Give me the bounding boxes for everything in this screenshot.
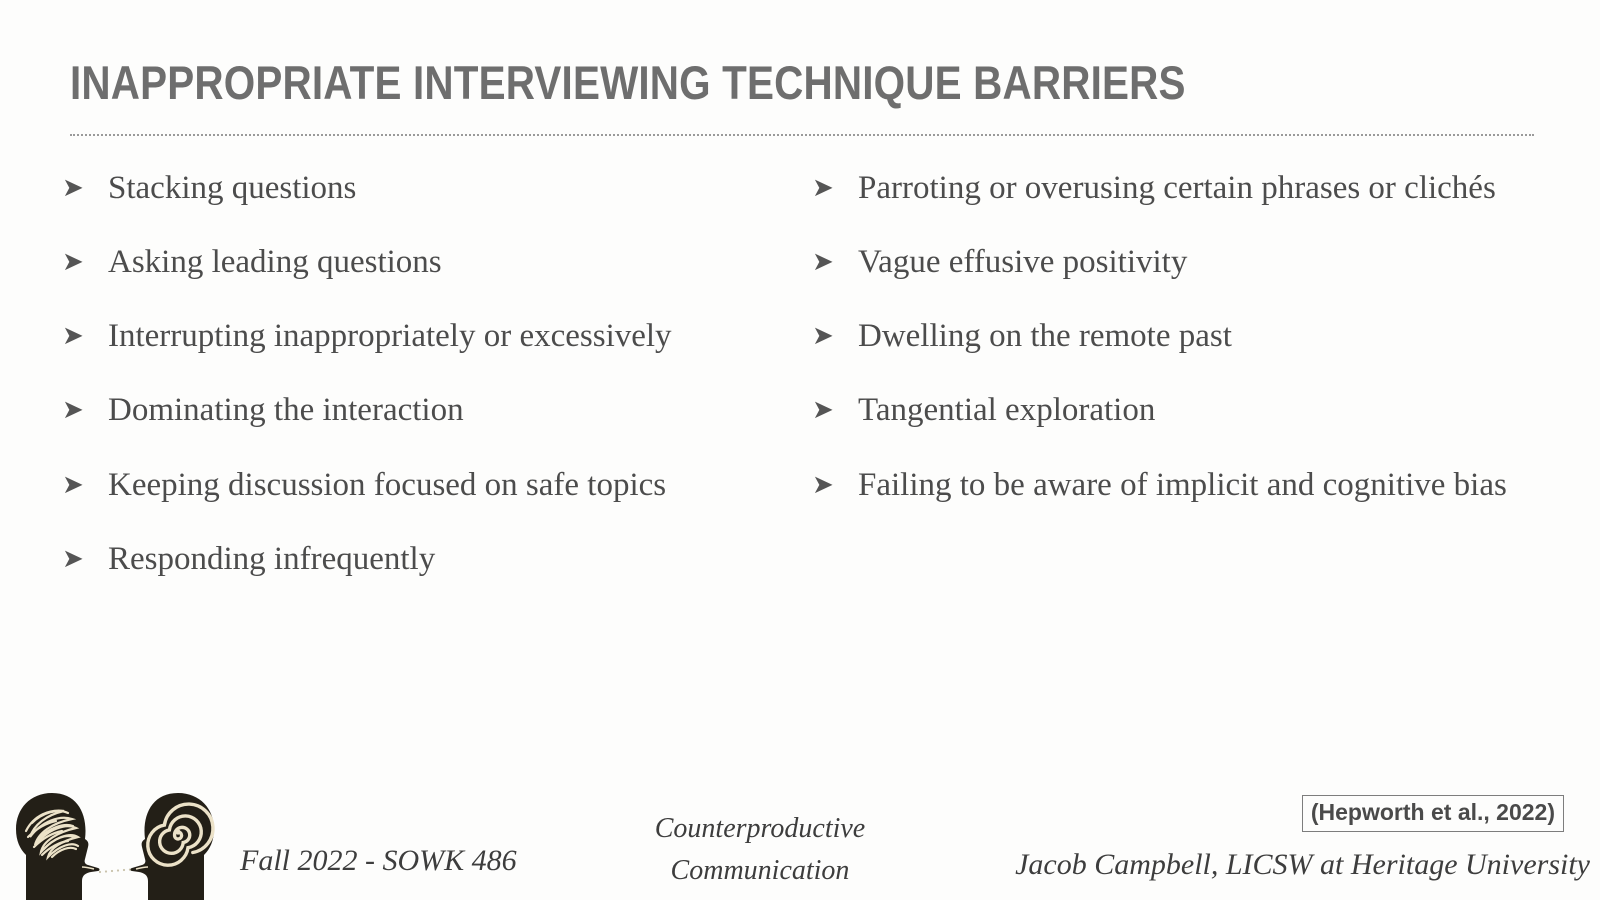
title-divider — [70, 134, 1534, 138]
list-item-label: Asking leading questions — [108, 237, 740, 287]
arrow-bullet-icon: ➤ — [812, 385, 858, 434]
head-with-scribbled-thoughts-icon — [16, 793, 100, 900]
list-item: ➤ Dominating the interaction — [62, 385, 740, 435]
arrow-bullet-icon: ➤ — [812, 237, 858, 286]
list-item-label: Interrupting inappropriately or excessiv… — [108, 311, 740, 361]
list-item: ➤ Parroting or overusing certain phrases… — [812, 163, 1560, 213]
arrow-bullet-icon: ➤ — [812, 460, 858, 509]
speech-connection-dots — [99, 869, 131, 874]
arrow-bullet-icon: ➤ — [62, 237, 108, 286]
head-with-spiral-icon — [131, 793, 215, 900]
arrow-bullet-icon: ➤ — [62, 385, 108, 434]
list-item-label: Parroting or overusing certain phrases o… — [858, 163, 1560, 213]
footer-topic-line-1: Counterproductive — [620, 808, 900, 850]
arrow-bullet-icon: ➤ — [62, 163, 108, 212]
list-item: ➤ Vague effusive positivity — [812, 237, 1560, 287]
bullet-column-right: ➤ Parroting or overusing certain phrases… — [800, 163, 1600, 534]
list-item: ➤ Keeping discussion focused on safe top… — [62, 460, 740, 510]
arrow-bullet-icon: ➤ — [62, 534, 108, 583]
list-item-label: Dominating the interaction — [108, 385, 740, 435]
list-item-label: Vague effusive positivity — [858, 237, 1560, 287]
list-item: ➤ Responding infrequently — [62, 534, 740, 584]
footer-author-label: Jacob Campbell, LICSW at Heritage Univer… — [1015, 848, 1590, 882]
list-item: ➤ Tangential exploration — [812, 385, 1560, 435]
list-item: ➤ Interrupting inappropriately or excess… — [62, 311, 740, 361]
list-item: ➤ Failing to be aware of implicit and co… — [812, 460, 1560, 510]
footer-course-label: Fall 2022 - SOWK 486 — [240, 844, 517, 878]
arrow-bullet-icon: ➤ — [812, 163, 858, 212]
slide-footer: Fall 2022 - SOWK 486 Counterproductive C… — [0, 760, 1600, 900]
slide-content: ➤ Stacking questions ➤ Asking leading qu… — [0, 163, 1600, 608]
footer-topic-label: Counterproductive Communication — [620, 808, 900, 892]
bullet-column-left: ➤ Stacking questions ➤ Asking leading qu… — [0, 163, 800, 608]
page-title: Inappropriate Interviewing Technique Bar… — [70, 55, 1334, 110]
arrow-bullet-icon: ➤ — [62, 311, 108, 360]
list-item: ➤ Asking leading questions — [62, 237, 740, 287]
list-item-label: Stacking questions — [108, 163, 740, 213]
list-item-label: Responding infrequently — [108, 534, 740, 584]
footer-topic-line-2: Communication — [620, 850, 900, 892]
list-item-label: Keeping discussion focused on safe topic… — [108, 460, 740, 510]
list-item: ➤ Dwelling on the remote past — [812, 311, 1560, 361]
two-heads-illustration — [8, 775, 223, 900]
arrow-bullet-icon: ➤ — [62, 460, 108, 509]
arrow-bullet-icon: ➤ — [812, 311, 858, 360]
list-item-label: Tangential exploration — [858, 385, 1560, 435]
list-item-label: Failing to be aware of implicit and cogn… — [858, 460, 1560, 510]
citation-badge: (Hepworth et al., 2022) — [1302, 795, 1564, 832]
list-item-label: Dwelling on the remote past — [858, 311, 1560, 361]
list-item: ➤ Stacking questions — [62, 163, 740, 213]
